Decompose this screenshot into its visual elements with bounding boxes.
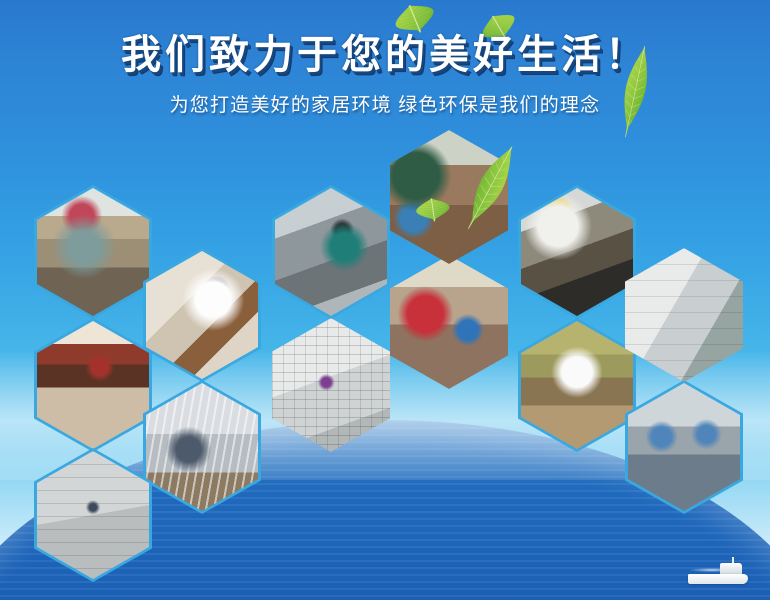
hex-floor-polisher-image	[390, 255, 508, 389]
hex-stair-mopping[interactable]	[143, 248, 261, 382]
hex-duct-cleaning[interactable]	[272, 185, 390, 319]
boat	[688, 558, 748, 584]
hex-kitchen-hood-image	[521, 188, 633, 316]
banner-text-block: 我们致力于您的美好生活！ 为您打造美好的家居环境 绿色环保是我们的理念	[0, 34, 770, 117]
hex-corridor-polishing-image	[521, 321, 633, 449]
hex-floor-polisher-photo	[390, 255, 508, 389]
hex-stair-mopping-image	[146, 251, 258, 379]
hex-stair-mopping-photo	[146, 251, 258, 379]
hex-building-glass[interactable]	[625, 248, 743, 382]
hex-building-glass-image	[625, 248, 743, 382]
hex-floor-polisher[interactable]	[390, 255, 508, 389]
hex-building-glass-photo	[625, 248, 743, 382]
page-title: 我们致力于您的美好生活！	[0, 34, 770, 76]
hex-railing-painting-photo	[37, 321, 149, 449]
hex-corridor-polishing[interactable]	[518, 318, 636, 452]
hex-corridor-polishing-photo	[521, 321, 633, 449]
hex-duct-cleaning-photo	[275, 188, 387, 316]
hex-counter-demolition-image	[37, 188, 149, 316]
hex-kitchen-hood[interactable]	[518, 185, 636, 319]
hex-railing-painting-image	[37, 321, 149, 449]
hex-duct-cleaning-image	[275, 188, 387, 316]
hex-railing-painting[interactable]	[34, 318, 152, 452]
hex-kitchen-hood-photo	[521, 188, 633, 316]
boat-hull	[688, 574, 748, 584]
hex-counter-demolition-photo	[37, 188, 149, 316]
promo-banner: 我们致力于您的美好生活！ 为您打造美好的家居环境 绿色环保是我们的理念	[0, 0, 770, 600]
page-subtitle: 为您打造美好的家居环境 绿色环保是我们的理念	[0, 90, 770, 117]
hex-counter-demolition[interactable]	[34, 185, 152, 319]
